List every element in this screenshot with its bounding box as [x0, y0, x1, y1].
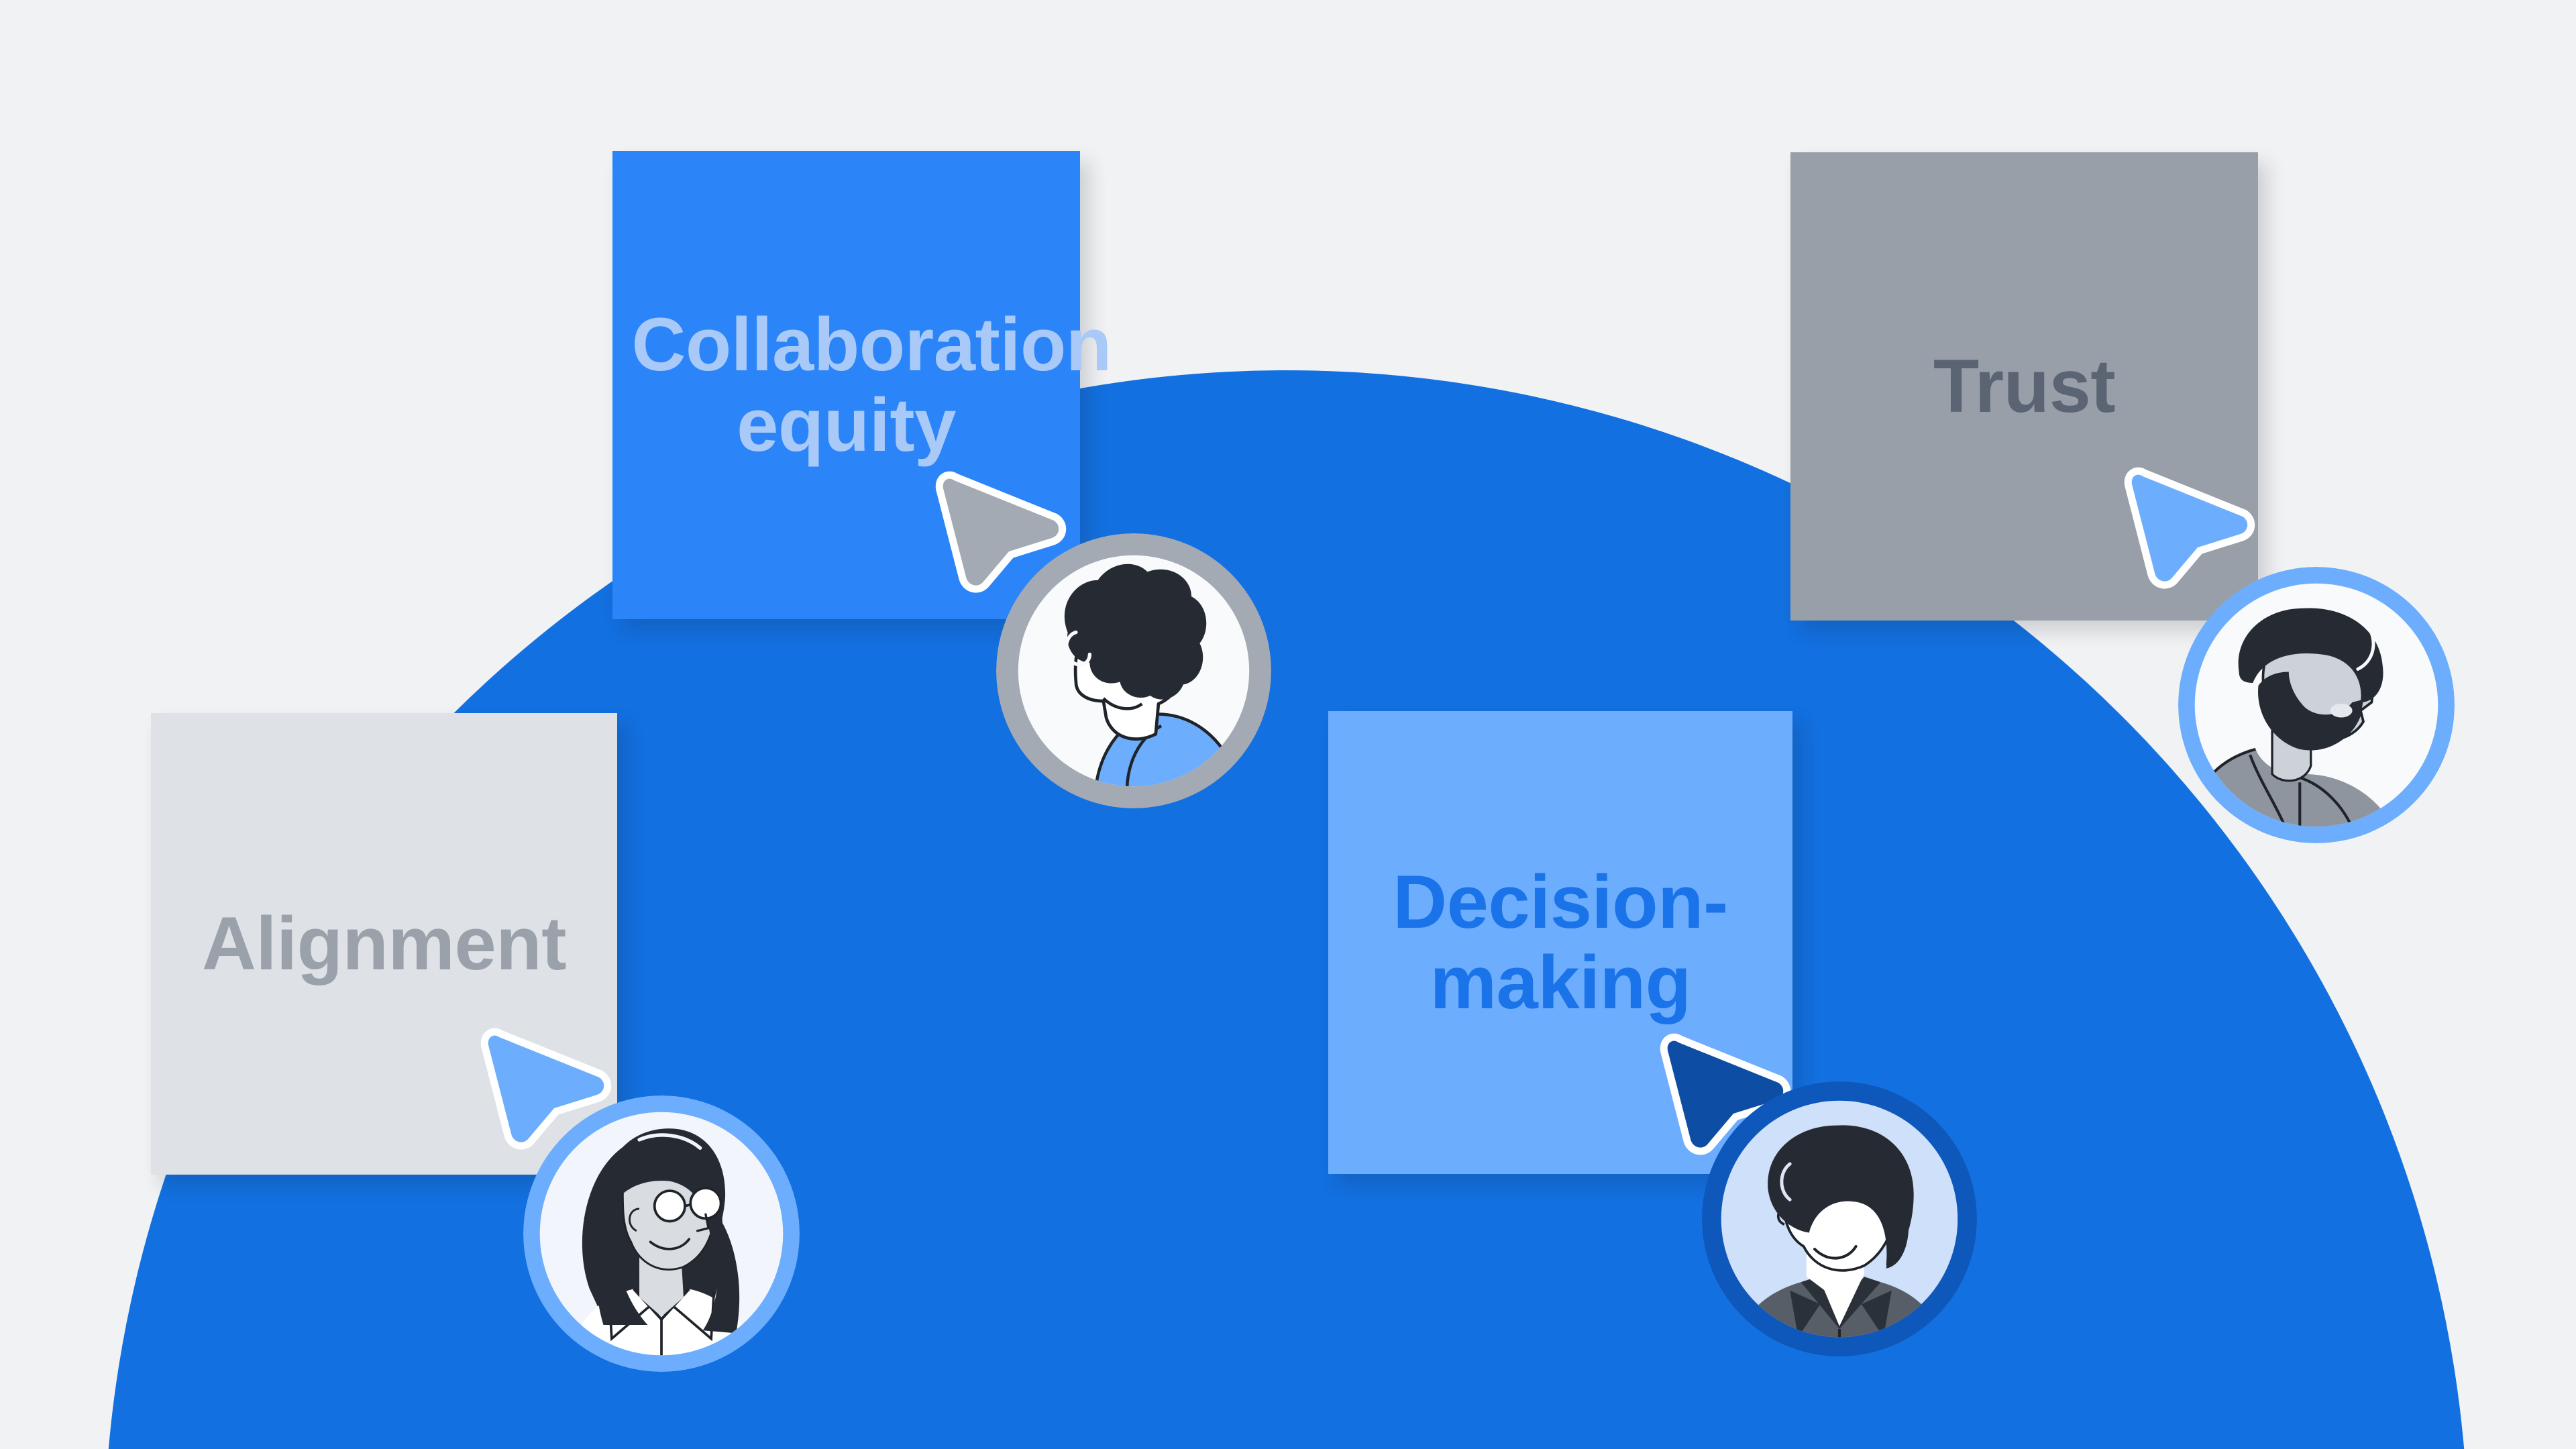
avatar-decision-making-participant[interactable] [1702, 1081, 1977, 1356]
avatar-alignment-participant[interactable] [523, 1095, 800, 1372]
card-label-decision-making: Decision- making [1346, 862, 1775, 1023]
card-label-alignment: Alignment [163, 904, 606, 984]
avatar-collaboration-participant[interactable] [996, 533, 1271, 808]
card-label-trust: Trust [1810, 346, 2239, 427]
card-label-collaboration-equity: Collaboration equity [632, 305, 1061, 466]
board-canvas: Collaboration equity Trust Alignment Dec… [0, 0, 2576, 1449]
avatar-trust-participant[interactable] [2178, 567, 2455, 843]
cursor-pointer-icon-trust[interactable] [2128, 466, 2255, 583]
